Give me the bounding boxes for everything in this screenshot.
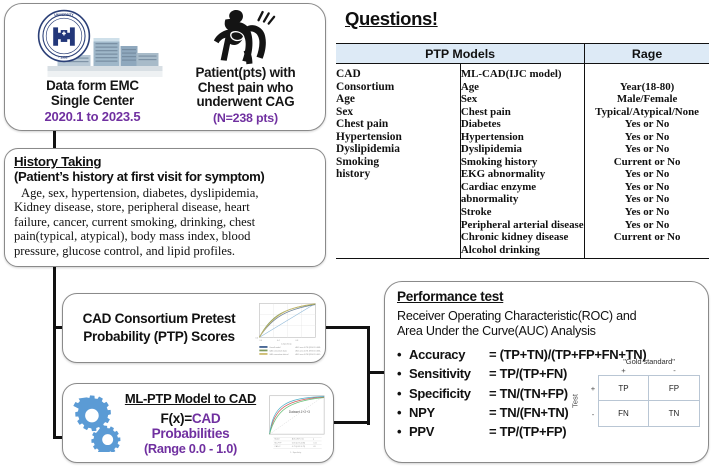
table-list-item: Yes or No — [585, 181, 709, 194]
table-list-item: EKG abnormality — [461, 168, 584, 181]
ml-cad-variable-list: ML-CAD(IJC model)AgeSexChest painDiabete… — [461, 68, 584, 256]
metric-formula: = TN/(TN+FP) — [489, 384, 568, 403]
table-list-item: Sex — [461, 93, 584, 106]
bullet-icon: • — [397, 422, 409, 441]
table-list-item: Hypertension — [461, 131, 584, 144]
metric-name: PPV — [409, 422, 489, 441]
svg-text:0.73 (0.67-0.79): 0.73 (0.67-0.79) — [292, 446, 306, 448]
patient-count: (N=238 pts) — [213, 111, 278, 126]
table-list-item: Smoking history — [461, 156, 584, 169]
table-list-item: Alcohol drinking — [461, 244, 584, 257]
table-list-item: Stroke — [461, 206, 584, 219]
svg-text:.03: .03 — [313, 446, 316, 448]
performance-test-heading: Performance test — [397, 289, 702, 304]
table-list-item: Cardiac enzyme abnormality — [461, 181, 584, 206]
table-list-item: Yes or No — [585, 193, 709, 206]
patient-title-line2: Chest pain who — [198, 81, 293, 96]
gears-icon — [67, 394, 121, 452]
data-source-right-column: Patient(pts) with Chest pain who underwe… — [172, 8, 319, 126]
ptp-scores-label: CAD Consortium Pretest Probability (PTP)… — [69, 310, 249, 346]
performance-test-box: Performance test Receiver Operating Char… — [384, 281, 709, 463]
svg-text:Model: Model — [275, 439, 281, 441]
table-list-item: Yes or No — [585, 143, 709, 156]
performance-metrics-list: •Accuracy= (TP+TN)/(TP+FP+FN+TN)•Sensiti… — [397, 345, 702, 441]
svg-text:CAD consortium basic: CAD consortium basic — [269, 349, 287, 352]
svg-text:0.81 (0.75-0.86): 0.81 (0.75-0.86) — [292, 442, 306, 444]
table-list-item: Yes or No — [585, 168, 709, 181]
table-list-item: Chest pain — [461, 106, 584, 119]
table-list-item: Age — [461, 81, 584, 94]
bullet-icon: • — [397, 403, 409, 422]
hospital-media-group: UNIVERSITY · 1956 · — [21, 9, 163, 79]
history-taking-body: Age, sex, hypertension, diabetes, dyslip… — [14, 186, 316, 258]
diagram-canvas: UNIVERSITY · 1956 · — [0, 0, 713, 468]
data-source-left-column: UNIVERSITY · 1956 · — [13, 8, 172, 126]
table-list-item: Chest pain — [336, 118, 460, 131]
performance-test-subtext: Receiver Operating Characteristic(ROC) a… — [397, 309, 702, 338]
metric-formula: = TN/(FN+TN) — [489, 403, 568, 422]
ml-ptp-range: (Range 0.0 - 1.0) — [121, 441, 260, 456]
bullet-icon: • — [397, 364, 409, 383]
table-cell-range: Year(18-80)Male/FemaleTypical/Atypical/N… — [585, 64, 709, 259]
connector-ml-right-stub — [329, 421, 370, 424]
confusion-matrix-cell: FN — [599, 401, 649, 426]
metric-name: Accuracy — [409, 345, 489, 364]
table-body-row: CADConsortiumAgeSexChest painHypertensio… — [336, 64, 709, 259]
table-list-item: Sex — [336, 106, 460, 119]
hospital-seal-logo: UNIVERSITY · 1956 · — [37, 9, 91, 63]
connector-ptp-right-stub — [322, 326, 370, 329]
confusion-matrix-column-signs: + - — [576, 366, 700, 375]
confusion-matrix-figure: "Gold standard" + - Test + - TPFPFNTN — [576, 357, 700, 427]
table-list-item: Age — [336, 93, 460, 106]
table-list-item: Consortium — [336, 81, 460, 94]
connector-history-trunk-vertical — [53, 267, 56, 439]
confusion-matrix-col-minus: - — [649, 366, 700, 375]
metric-formula: = TP/(TP+FP) — [489, 422, 566, 441]
ml-ptp-text-group: ML-PTP Model to CAD F(x)=CAD Probabiliti… — [121, 390, 260, 456]
ml-ptp-formula-prefix: F(x)= — [161, 411, 192, 426]
table-list-item: Typical/Atypical/None — [585, 106, 709, 119]
ml-ptp-formula: F(x)=CAD Probabilities — [121, 411, 260, 441]
ml-ptp-model-box: ML-PTP Model to CAD F(x)=CAD Probabiliti… — [62, 383, 334, 463]
svg-text:p: p — [313, 439, 314, 441]
metric-name: NPY — [409, 403, 489, 422]
svg-text:<.01: <.01 — [313, 441, 317, 444]
ml-ptp-heading: ML-PTP Model to CAD — [125, 391, 256, 406]
table-list-item: Year(18-80) — [585, 81, 709, 94]
ptp-models-table-wrap: PTP Models Rage CADConsortiumAgeSexChest… — [336, 43, 709, 259]
confusion-matrix-cell: FP — [649, 376, 699, 401]
history-line-5: pressure, glucose control, and lipid pro… — [14, 244, 316, 258]
chest-pain-patient-icon — [199, 8, 291, 66]
svg-text:Overall model: Overall model — [269, 347, 281, 349]
table-cell-ml-cad: ML-CAD(IJC model)AgeSexChest painDiabete… — [460, 64, 584, 259]
table-list-item: Yes or No — [585, 219, 709, 232]
patient-title-line1: Patient(pts) with — [195, 66, 295, 81]
questions-title: Questions! — [345, 8, 438, 30]
data-source-box: UNIVERSITY · 1956 · — [4, 3, 326, 131]
svg-text:CAD-C: CAD-C — [275, 445, 282, 448]
confusion-matrix-row-minus: - — [588, 401, 598, 427]
table-list-item: Chronic kidney disease — [461, 231, 584, 244]
confusion-matrix-cell: TP — [599, 376, 649, 401]
table-list-item: ML-CAD(IJC model) — [461, 68, 584, 81]
confusion-matrix-cell: TN — [649, 401, 699, 426]
data-source-title-line1: Data form EMC — [46, 79, 139, 94]
svg-text:CAD consortium clinical: CAD consortium clinical — [269, 353, 289, 356]
confusion-matrix-caption: "Gold standard" — [576, 357, 700, 366]
table-list-item: Hypertension — [336, 131, 460, 144]
table-list-item — [585, 68, 709, 81]
table-list-item: Dyslipidemia — [336, 143, 460, 156]
cad-consortium-ptp-box: CAD Consortium Pretest Probability (PTP)… — [62, 293, 326, 363]
table-list-item: Male/Female — [585, 93, 709, 106]
ptp-scores-line1: CAD Consortium Pretest — [69, 310, 249, 328]
performance-sub-line1: Receiver Operating Characteristic(ROC) a… — [397, 309, 702, 324]
history-line-2: Kidney disease, store, peripheral diseas… — [14, 200, 316, 214]
table-list-item: Smoking — [336, 156, 460, 169]
table-list-item: history — [336, 168, 460, 181]
roc-curve-thumbnail: 0.0 0.00.40.8 1-Specificity Overall mode… — [249, 300, 321, 356]
connector-src-to-history — [53, 131, 56, 149]
data-source-period: 2020.1 to 2023.5 — [45, 109, 141, 124]
bullet-icon: • — [397, 345, 409, 364]
table-cell-cad-consortium: CADConsortiumAgeSexChest painHypertensio… — [336, 64, 460, 259]
svg-text:· 1956 ·: · 1956 · — [59, 56, 70, 60]
svg-text:1 - Specificity: 1 - Specificity — [290, 451, 301, 454]
svg-text:AUC area 0.736 (95%CI 0.668 -: AUC area 0.736 (95%CI 0.668 - 0.791) — [296, 346, 322, 349]
table-list-item: Yes or No — [585, 206, 709, 219]
bullet-icon: • — [397, 384, 409, 403]
svg-text:UNIVERSITY: UNIVERSITY — [55, 13, 75, 17]
confusion-matrix-grid: TPFPFNTN — [598, 375, 700, 427]
connector-right-trunk-vertical — [367, 326, 370, 425]
ptp-models-table: PTP Models Rage CADConsortiumAgeSexChest… — [336, 43, 709, 259]
cad-consortium-variable-list: CADConsortiumAgeSexChest painHypertensio… — [336, 68, 460, 181]
history-line-3: failure, cancer, current smoking, drinki… — [14, 215, 316, 229]
table-list-item: CAD — [336, 68, 460, 81]
metric-name: Sensitivity — [409, 364, 489, 383]
confusion-matrix-row-plus: + — [588, 375, 598, 401]
table-list-item: Dyslipidemia — [461, 143, 584, 156]
metric-name: Specificity — [409, 384, 489, 403]
table-header-rage: Rage — [585, 44, 709, 64]
table-list-item: Current or No — [585, 156, 709, 169]
confusion-matrix-col-plus: + — [598, 366, 649, 375]
patient-title-line3: underwent CAG — [196, 95, 294, 110]
table-list-item: Yes or No — [585, 131, 709, 144]
history-line-1: Age, sex, hypertension, diabetes, dyslip… — [14, 186, 316, 200]
svg-text:ML-PTP: ML-PTP — [275, 442, 283, 444]
metric-formula: = TP/(TP+FN) — [489, 364, 567, 383]
svg-text:AUC (95% CI): AUC (95% CI) — [292, 438, 304, 441]
confusion-matrix-row-signs: + - — [588, 375, 598, 427]
svg-text:1-Specificity: 1-Specificity — [281, 342, 292, 345]
table-list-item: Yes or No — [585, 118, 709, 131]
history-taking-heading: History Taking — [14, 154, 316, 169]
svg-text:AUC area 0.708 (95%CI 0.641 -: AUC area 0.708 (95%CI 0.641 - 0.774) — [296, 353, 322, 356]
table-list-item: Current or No — [585, 231, 709, 244]
svg-text:Dataset 1+2+3: Dataset 1+2+3 — [289, 410, 310, 414]
table-header-row: PTP Models Rage — [336, 44, 709, 64]
table-list-item: Diabetes — [461, 118, 584, 131]
confusion-matrix-axis: Test — [576, 375, 588, 427]
table-header-ptp-models: PTP Models — [336, 44, 585, 64]
data-source-title-line2: Single Center — [51, 94, 134, 109]
ptp-scores-line2: Probability (PTP) Scores — [69, 328, 249, 346]
history-taking-box: History Taking (Patient’s history at fir… — [4, 148, 326, 267]
confusion-matrix-axis-label: Test — [570, 394, 579, 408]
svg-text:AUC area 0.701 (95%CI 0.636 -: AUC area 0.701 (95%CI 0.636 - 0.773) — [296, 349, 322, 352]
history-taking-subheading: (Patient’s history at first visit for sy… — [14, 169, 316, 185]
range-value-list: Year(18-80)Male/FemaleTypical/Atypical/N… — [585, 68, 709, 244]
roc-curve-thumbnail-dataset: Dataset 1+2+3 ModelAUC (95% CI)p ML-PTP0… — [260, 392, 330, 454]
table-list-item: Peripheral arterial disease — [461, 219, 584, 232]
history-line-4: pain(typical, atypical), body mass index… — [14, 229, 316, 243]
performance-sub-line2: Area Under the Curve(AUC) Analysis — [397, 324, 702, 339]
